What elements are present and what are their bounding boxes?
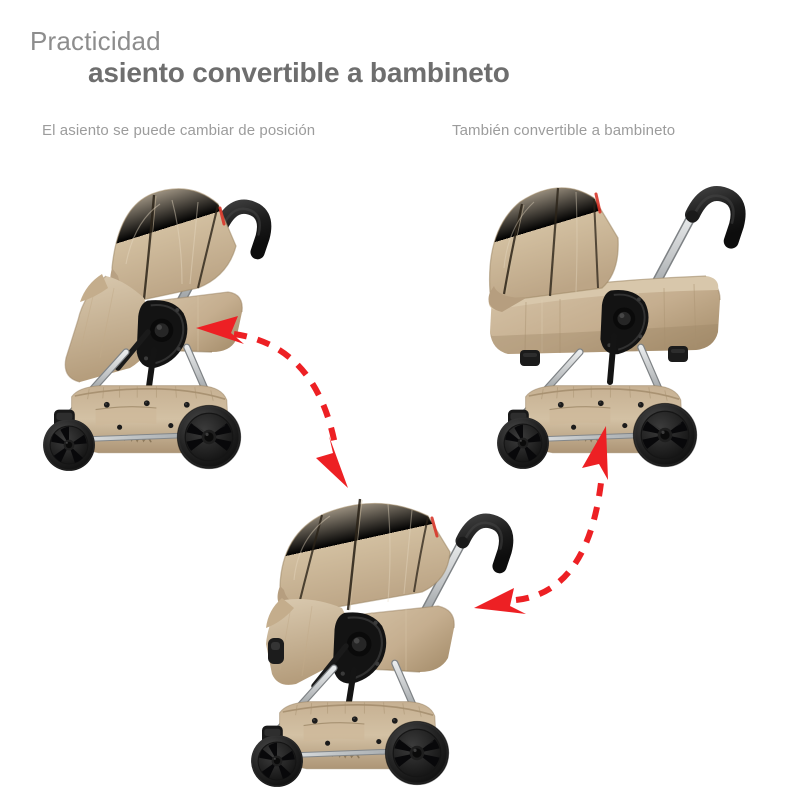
arrow-forward-to-bassinet bbox=[466, 412, 676, 632]
wheel-rear bbox=[385, 721, 448, 784]
wheel-front bbox=[251, 735, 303, 787]
canopy bbox=[110, 189, 236, 300]
caption-left-seat-position: El asiento se puede cambiar de posición bbox=[42, 122, 315, 139]
curved-dashed-arrow-up-right bbox=[466, 412, 676, 632]
infographic-page: Practicidad asiento convertible a bambin… bbox=[0, 0, 800, 800]
page-title: asiento convertible a bambineto bbox=[88, 57, 510, 89]
eyebrow-text: Practicidad bbox=[30, 26, 161, 57]
caption-right-bassinet: También convertible a bambineto bbox=[452, 122, 675, 139]
curved-dashed-arrow-down-right bbox=[190, 300, 390, 500]
canopy bbox=[278, 499, 450, 612]
wheel-front bbox=[43, 419, 95, 471]
arrow-seat-reverse-to-forward bbox=[190, 300, 390, 500]
